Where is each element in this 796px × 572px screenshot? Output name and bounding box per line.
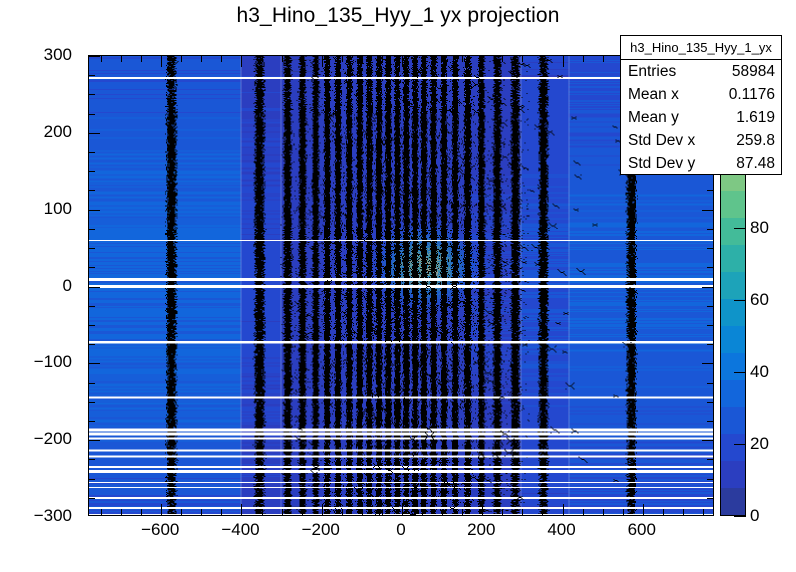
y-tick-mark: [89, 325, 95, 326]
stats-row: Mean x0.1176: [621, 83, 781, 106]
stats-row-key: Mean x: [628, 86, 679, 104]
stats-row: Std Dev x259.8: [621, 130, 781, 153]
x-tick-mark: [342, 509, 343, 515]
x-tick-mark: [542, 509, 543, 515]
x-tick-label: −200: [302, 520, 340, 540]
y-tick-mark-right: [707, 306, 713, 307]
z-tick-mark: [734, 372, 746, 373]
x-tick-mark-top: [362, 56, 363, 62]
x-tick-mark-top: [121, 56, 122, 62]
y-tick-mark-right: [702, 287, 713, 288]
x-tick-mark-top: [482, 56, 483, 67]
x-tick-mark-top: [422, 56, 423, 62]
x-tick-mark: [603, 509, 604, 515]
stats-row-value: 0.1176: [729, 86, 775, 104]
x-tick-mark: [121, 509, 122, 515]
y-tick-mark: [89, 56, 100, 57]
x-tick-mark-top: [322, 56, 323, 67]
y-tick-mark-right: [707, 267, 713, 268]
x-tick-mark-top: [262, 56, 263, 62]
x-axis: −600−400−2000200400600: [88, 520, 714, 546]
x-tick-mark-top: [241, 56, 242, 67]
z-tick-label: 80: [750, 218, 769, 238]
x-tick-mark: [382, 509, 383, 515]
x-tick-mark: [221, 509, 222, 515]
x-tick-mark: [623, 509, 624, 515]
x-tick-mark-top: [101, 56, 102, 62]
y-tick-mark: [89, 94, 95, 95]
stats-row: Std Dev y87.48: [621, 153, 781, 176]
x-tick-mark-top: [462, 56, 463, 62]
x-tick-mark: [522, 509, 523, 515]
y-tick-label: −200: [34, 429, 72, 449]
y-tick-mark: [89, 498, 95, 499]
y-tick-label: 200: [44, 122, 72, 142]
x-tick-label: 0: [396, 520, 405, 540]
stats-box[interactable]: h3_Hino_135_Hyy_1_yx Entries58984Mean x0…: [620, 35, 782, 175]
x-tick-mark: [302, 509, 303, 515]
x-tick-mark: [422, 509, 423, 515]
x-tick-mark-top: [302, 56, 303, 62]
x-tick-mark-top: [442, 56, 443, 62]
stats-row-key: Std Dev y: [628, 155, 695, 173]
x-tick-mark-top: [161, 56, 162, 67]
x-tick-mark-top: [522, 56, 523, 62]
y-tick-mark-right: [707, 248, 713, 249]
y-tick-mark-right: [707, 325, 713, 326]
stats-row-value: 1.619: [736, 109, 775, 127]
x-tick-mark: [181, 509, 182, 515]
x-tick-mark: [101, 509, 102, 515]
stats-row-key: Std Dev x: [628, 132, 695, 150]
y-tick-mark: [89, 152, 95, 153]
y-tick-mark: [89, 267, 95, 268]
x-tick-label: 400: [547, 520, 575, 540]
x-tick-mark: [502, 509, 503, 515]
y-tick-mark: [89, 75, 95, 76]
y-tick-mark: [89, 306, 95, 307]
x-tick-mark: [362, 509, 363, 515]
y-tick-mark: [89, 402, 95, 403]
y-tick-mark-right: [702, 210, 713, 211]
y-tick-mark: [89, 421, 95, 422]
x-tick-label: 200: [467, 520, 495, 540]
x-tick-mark: [683, 509, 684, 515]
x-tick-mark-top: [542, 56, 543, 62]
stats-row-key: Mean y: [628, 109, 679, 127]
y-tick-mark-right: [707, 498, 713, 499]
x-tick-mark-top: [342, 56, 343, 62]
x-tick-mark: [583, 509, 584, 515]
y-tick-mark: [89, 171, 95, 172]
y-tick-mark: [89, 479, 95, 480]
z-tick-label: 0: [750, 506, 759, 526]
x-tick-mark-top: [141, 56, 142, 62]
stats-row: Mean y1.619: [621, 106, 781, 129]
z-tick-label: 20: [750, 434, 769, 454]
stats-row-key: Entries: [628, 63, 676, 81]
stats-row-value: 87.48: [736, 155, 775, 173]
x-tick-mark: [643, 504, 644, 515]
y-tick-mark: [89, 210, 100, 211]
x-tick-mark-top: [603, 56, 604, 62]
x-tick-mark: [141, 509, 142, 515]
y-tick-mark-right: [702, 440, 713, 441]
y-tick-mark-right: [707, 190, 713, 191]
y-tick-mark: [89, 363, 100, 364]
y-tick-mark-right: [707, 459, 713, 460]
y-tick-label: −300: [34, 506, 72, 526]
y-tick-mark: [89, 440, 100, 441]
y-tick-mark: [89, 248, 95, 249]
stats-row: Entries58984: [621, 60, 781, 83]
stats-rows: Entries58984Mean x0.1176Mean y1.619Std D…: [621, 60, 781, 176]
y-tick-mark-right: [707, 402, 713, 403]
x-tick-mark: [703, 509, 704, 515]
y-tick-mark: [89, 344, 95, 345]
stats-row-value: 259.8: [736, 132, 775, 150]
x-tick-mark: [241, 504, 242, 515]
root-canvas: h3_Hino_135_Hyy_1 yx projection −300−200…: [0, 0, 796, 572]
y-tick-mark: [89, 459, 95, 460]
y-tick-mark-right: [702, 363, 713, 364]
x-tick-mark-top: [181, 56, 182, 62]
z-tick-mark: [734, 228, 746, 229]
y-tick-mark: [89, 287, 100, 288]
x-tick-mark-top: [221, 56, 222, 62]
y-tick-mark: [89, 114, 95, 115]
x-tick-mark-top: [402, 56, 403, 67]
y-tick-mark-right: [707, 479, 713, 480]
x-tick-label: −400: [221, 520, 259, 540]
y-tick-mark: [89, 133, 100, 134]
x-tick-mark: [262, 509, 263, 515]
x-tick-mark-top: [563, 56, 564, 67]
x-tick-mark: [563, 504, 564, 515]
y-tick-mark: [89, 190, 95, 191]
x-tick-mark-top: [502, 56, 503, 62]
stats-row-value: 58984: [732, 63, 775, 81]
y-tick-mark-right: [707, 383, 713, 384]
y-axis: −300−200−1000100200300: [0, 55, 80, 516]
z-tick-mark: [734, 444, 746, 445]
y-tick-label: −100: [34, 352, 72, 372]
y-tick-mark-right: [707, 229, 713, 230]
y-tick-label: 100: [44, 199, 72, 219]
x-tick-label: −600: [141, 520, 179, 540]
y-tick-mark: [89, 229, 95, 230]
x-tick-mark-top: [382, 56, 383, 62]
x-tick-mark: [482, 504, 483, 515]
z-tick-label: 60: [750, 290, 769, 310]
z-tick-mark: [734, 516, 746, 517]
x-tick-label: 600: [628, 520, 656, 540]
y-tick-mark-right: [707, 344, 713, 345]
y-tick-mark: [89, 383, 95, 384]
x-tick-mark-top: [583, 56, 584, 62]
x-tick-mark: [442, 509, 443, 515]
x-tick-mark-top: [201, 56, 202, 62]
y-tick-mark-right: [707, 421, 713, 422]
x-tick-mark: [282, 509, 283, 515]
stats-box-title: h3_Hino_135_Hyy_1_yx: [621, 36, 781, 60]
x-tick-mark: [663, 509, 664, 515]
y-tick-label: 0: [63, 276, 72, 296]
z-tick-mark: [734, 300, 746, 301]
page-title: h3_Hino_135_Hyy_1 yx projection: [0, 4, 796, 28]
x-tick-mark: [462, 509, 463, 515]
x-tick-mark: [322, 504, 323, 515]
z-tick-label: 40: [750, 362, 769, 382]
y-tick-label: 300: [44, 45, 72, 65]
x-tick-mark: [402, 504, 403, 515]
x-tick-mark: [161, 504, 162, 515]
x-tick-mark: [201, 509, 202, 515]
x-tick-mark-top: [282, 56, 283, 62]
